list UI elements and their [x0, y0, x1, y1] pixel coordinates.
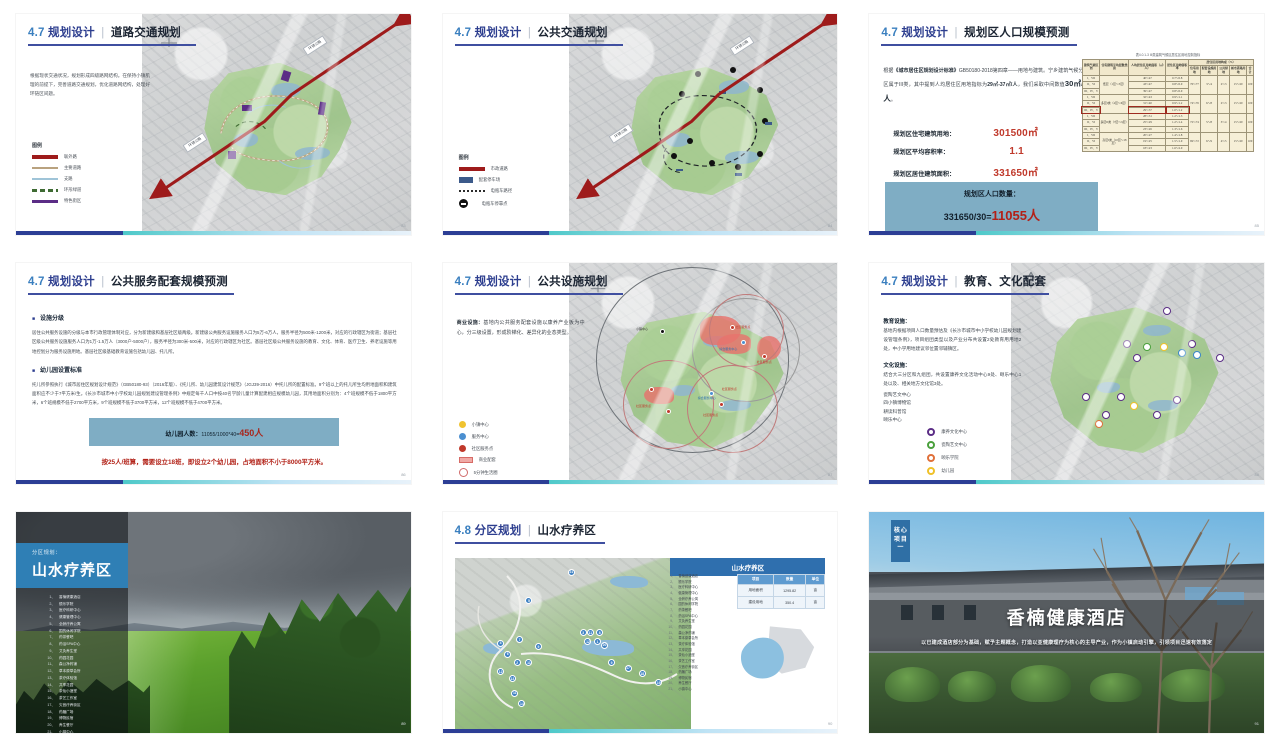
slide-header: 4.7 规划设计 | 规划区人口规模预测 — [869, 14, 1264, 46]
legend-label: 环形绿道 — [64, 187, 81, 193]
result-highlight: 11055人 — [992, 208, 1040, 223]
box-formula: 11055/1000*40= — [201, 432, 239, 438]
list-item: 16、茶艺工作室 — [46, 695, 142, 702]
list-item: 13、茶疗体验馆 — [46, 675, 142, 682]
main-road-arrow — [569, 14, 837, 234]
legend-swatch-line — [32, 200, 58, 203]
slide-number: 4.7 — [28, 276, 45, 288]
slide-cell-4: 4.7 规划设计 | 公共服务配套规模预测 设施分级 居住公共服务设施的分级与本… — [0, 249, 427, 498]
site-green-area — [201, 63, 351, 196]
legend-swatch-dots — [459, 190, 485, 192]
legend-label: 配套停车场 — [479, 177, 500, 183]
cell-res: 69～72 — [1189, 132, 1201, 151]
calculation-rows: 规划区住宅建筑用地：301500㎡ 规划区平均容积率：1.1 规划区居住建筑面积… — [893, 124, 1093, 186]
slide-footer-bar — [443, 480, 838, 484]
map-label: 社区服务点 — [757, 360, 772, 364]
museum-pin — [1178, 349, 1186, 357]
calc-value: 331650㎡ — [993, 164, 1038, 179]
museum-pin — [1193, 351, 1201, 359]
calc-value: 301500㎡ — [993, 124, 1038, 139]
slide-public-service-scale[interactable]: 4.7 规划设计 | 公共服务配套规模预测 设施分级 居住公共服务设施的分级与本… — [16, 263, 411, 484]
slide-title-secondary: 教育、文化配套 — [964, 276, 1046, 288]
culture-center-pin — [1188, 340, 1196, 348]
slide-title-secondary: 规划区人口规模预测 — [964, 27, 1069, 39]
legend-item: 社区服务点 — [459, 445, 504, 452]
legend-item: 幼儿园 — [927, 467, 967, 475]
culture-item: 耕读科普馆 — [883, 408, 1021, 416]
page-number: 86 — [401, 472, 405, 477]
list-item: 11、森公净药铺 — [46, 661, 142, 668]
cell-fac: 3～4 — [1200, 75, 1217, 94]
cell-sum: 100 — [1247, 94, 1254, 113]
map-number-pin[interactable]: 21 — [568, 569, 575, 576]
cell-green: 2～3 — [1218, 75, 1230, 94]
slide-cell-1: 环镇公路 环镇公路 4.7 规划设计 | 道路交通规划 根据现状交通状况，规划形… — [0, 0, 427, 249]
core-project-tag: 核心项目一 — [891, 520, 910, 562]
legend-label: 康养文化中心 — [941, 429, 967, 435]
culture-center-pin — [1117, 393, 1125, 401]
indicator-table: 建筑气候区划 住宅建筑平均层数类别 人均居住区用地面积（㎡/人） 居住区用地容积… — [1082, 59, 1254, 152]
cell-type: 低层（1层～3层） — [1100, 75, 1129, 94]
slide-public-facilities[interactable]: 小镇中心 社区服务点 综合服务中心 社区服务点 综合服务中心 社区服务点 社区服… — [443, 263, 838, 484]
cell-zone: III、IV、V — [1082, 145, 1099, 151]
tram-stop-marker — [730, 67, 736, 73]
special-district-marker — [242, 105, 252, 111]
legend-education-culture: 康养文化中心 瓷陶艺文中心 颐乐学院 幼儿园 博物馆 — [927, 428, 967, 484]
slide-footer-bar — [869, 231, 1264, 235]
slide-cell-8: 4.8 分区规划 | 山水疗养区 21596473118121211121311… — [427, 498, 854, 747]
cell-res: 76～77 — [1189, 75, 1201, 94]
list-item: 8、药浴SPA中心 — [46, 641, 142, 648]
page-number: 85 — [1255, 223, 1259, 228]
legend-item: 商业配套 — [459, 457, 504, 463]
legend-label: 颐乐学院 — [941, 455, 958, 461]
zone-location-diagram — [737, 622, 819, 684]
legend-title: 图例 — [32, 142, 81, 149]
slide-header: 4.7 规划设计 | 公共设施规划 — [443, 263, 838, 295]
slide-number: 4.8 — [455, 525, 472, 537]
community-service-marker — [762, 354, 767, 359]
slide-header: 4.7 规划设计 | 公共交通规划 — [443, 14, 838, 46]
cell-sum: 100 — [1247, 132, 1254, 151]
legend-label: 服务中心 — [472, 434, 489, 440]
map-number-pin[interactable]: 17 — [625, 665, 632, 672]
legend-swatch-line — [32, 167, 58, 169]
result-formula: 331650/30= — [944, 212, 992, 222]
parking-marker — [735, 173, 742, 176]
legend-label: 特色街区 — [64, 198, 81, 204]
satellite-map-background: 环镇公路 环镇公路 — [569, 14, 837, 235]
slide-population-forecast[interactable]: 4.7 规划设计 | 规划区人口规模预测 根据《城市居住区规划设计标准》GB50… — [869, 14, 1264, 235]
cell-green: 4～5 — [1218, 132, 1230, 151]
slide-title-secondary: 公共服务配套规模预测 — [111, 276, 228, 288]
list-item: 10、药园花园 — [46, 655, 142, 662]
map-number-pin[interactable]: 4 — [497, 640, 504, 647]
legend-label: 商业配套 — [479, 457, 496, 463]
page-number: 84 — [828, 223, 832, 228]
list-item: 1、香楠健康酒店 — [46, 594, 142, 601]
tram-stop-marker — [735, 164, 741, 170]
cell-fac: 5～8 — [1200, 113, 1217, 132]
list-item: 14、共享花园 — [46, 682, 142, 689]
tram-stop-marker — [762, 118, 768, 124]
water-body — [666, 133, 690, 146]
service-center-marker — [741, 340, 746, 345]
satellite-map-background: 环镇公路 环镇公路 — [142, 14, 410, 235]
cell-sum: 100 — [1247, 113, 1254, 132]
conclusion-text: 按25人/班算，需要设立18班，即设立2个幼儿园，占地面积不小于8000平方米。 — [32, 457, 397, 466]
page-number: 88 — [1255, 472, 1259, 477]
slide-cell-5: 小镇中心 社区服务点 综合服务中心 社区服务点 综合服务中心 社区服务点 社区服… — [427, 249, 854, 498]
cell-road: 15～20 — [1230, 94, 1247, 113]
list-item: 6、国的休闲学院 — [46, 628, 142, 635]
commercial-area-blob — [757, 336, 781, 360]
title-separator: | — [528, 525, 531, 537]
road-label: 环镇公路 — [182, 132, 207, 153]
culture-center-pin — [1082, 393, 1090, 401]
cell-green: 2～3 — [1218, 94, 1230, 113]
zone-site-map[interactable]: 2159647311812121112131114917181920 — [455, 558, 691, 733]
legend-transit: 图例 市政道路 配套停车场 电瓶车路径 电瓶车停靠点 — [459, 154, 512, 213]
yile-academy-pin — [1095, 420, 1103, 428]
parking-marker — [719, 91, 726, 94]
legend-label: 主要道路 — [64, 165, 81, 171]
shrub — [948, 671, 995, 702]
calc-value: 1.1 — [993, 146, 1024, 157]
slide-road-traffic[interactable]: 环镇公路 环镇公路 4.7 规划设计 | 道路交通规划 根据现状交通状况，规划形… — [16, 14, 411, 235]
list-item: 12、草本原草会所 — [46, 668, 142, 675]
title-separator: | — [955, 276, 958, 288]
legend-label: 5分钟生活圈 — [474, 470, 498, 476]
cell-unit: 亩 — [806, 585, 825, 597]
cell-road: 15～20 — [1230, 113, 1247, 132]
culture-center-pin — [1216, 354, 1224, 362]
title-underline — [28, 293, 234, 295]
tram-stop-marker — [671, 153, 677, 159]
legend-fillbox — [459, 457, 473, 463]
site-green-area — [1047, 307, 1219, 453]
service-center-marker — [709, 391, 714, 396]
legend-facilities: 小镇中心 服务中心 社区服务点 商业配套 5分钟生活圈 10分钟生活圈 15分钟… — [459, 421, 504, 484]
slide-title-primary: 规划设计 — [48, 276, 95, 288]
slide-header: 4.7 规划设计 | 教育、文化配套 — [869, 263, 1264, 295]
cell-fac: 6～8 — [1200, 94, 1217, 113]
map-number-pin[interactable]: 1 — [594, 638, 601, 645]
th-far: 居住区用地容积率 — [1166, 60, 1189, 76]
map-label: 综合服务中心 — [719, 347, 737, 351]
slide-education-culture[interactable]: 4.7 规划设计 | 教育、文化配套 教育设施： 基地内根据项目人口数量预估及《… — [869, 263, 1264, 484]
special-district-marker — [280, 70, 291, 82]
calc-key: 规划区居住建筑面积： — [893, 171, 993, 179]
special-district-marker — [228, 151, 236, 159]
th-storey-type: 住宅建筑平均层数类别 — [1100, 60, 1129, 76]
legend-item: 电瓶车停靠点 — [459, 199, 512, 208]
road-network-overlay — [196, 58, 362, 195]
kindergarten-pin — [1160, 343, 1168, 351]
list-item: 5、全龄疗养公寓 — [46, 621, 142, 628]
th-total: 合计 — [1247, 66, 1254, 76]
water-body — [1097, 382, 1120, 393]
title-underline — [28, 44, 196, 46]
legend-item: 特色街区 — [32, 198, 81, 204]
legend-title: 图例 — [459, 154, 512, 161]
culture-center-pin — [1123, 340, 1131, 348]
page-number: 89 — [401, 721, 405, 726]
list-item: 19、博物民宿 — [46, 715, 142, 722]
cell-road: 15～20 — [1230, 75, 1247, 94]
calc-key: 规划区住宅建筑用地： — [893, 131, 993, 139]
legend-swatch-line — [459, 167, 485, 170]
legend-item: 联外路 — [32, 154, 81, 160]
map-number-pin[interactable]: 3 — [580, 629, 587, 636]
slide-header: 4.7 规划设计 | 公共服务配套规模预测 — [16, 263, 411, 295]
zone-title: 山水疗养区 — [32, 559, 128, 580]
water-body — [725, 151, 760, 164]
culture-item: 四小镇博物馆 — [883, 399, 1021, 407]
edu-body: 基地内根据项目人口数量预估及《长沙市城市中小学校幼儿园规划建设管理条例》，项目组… — [883, 327, 1021, 354]
title-underline — [455, 542, 605, 544]
water-body — [719, 80, 749, 93]
slide-title-primary: 规划设计 — [901, 276, 948, 288]
life-circle-5min — [623, 360, 714, 448]
legend-item: 电瓶车路径 — [459, 188, 512, 194]
legend-swatch-line — [32, 178, 58, 180]
list-item: 7、药茶餐吧 — [46, 634, 142, 641]
zone-facility-list: 1、香楠健康酒店2、颐乐学院3、医疗科研中心4、健康管理中心5、全龄疗养公寓6、… — [667, 574, 731, 693]
parking-marker — [765, 122, 772, 125]
map-label: 社区服务点 — [735, 325, 750, 329]
map-label: 综合服务中心 — [698, 396, 716, 400]
section-heading-1: 设施分级 — [32, 313, 397, 322]
slide-title-secondary: 山水疗养区 — [537, 525, 596, 537]
legend-item: 服务中心 — [459, 433, 504, 440]
community-service-marker — [719, 402, 724, 407]
water-body — [1143, 325, 1171, 336]
calc-row: 规划区住宅建筑用地：301500㎡ — [893, 124, 1093, 139]
list-item: 15、茶仙小酒堂 — [46, 688, 142, 695]
map-label: 小镇中心 — [636, 327, 648, 331]
page-number: 90 — [828, 721, 832, 726]
cell-item: 建设用地 — [738, 597, 774, 609]
tram-route-overlay — [623, 63, 789, 200]
cell-type: 多层I类（4层～6层） — [1100, 94, 1129, 113]
slide-title-primary: 规划设计 — [475, 276, 522, 288]
standard-intro-paragraph: 根据《城市居住区规划设计标准》GB50180-2018第四章——用地与建筑。宁乡… — [883, 66, 1083, 106]
legend-item: 颐乐学院 — [927, 454, 967, 462]
standard-name: 《城市居住区规划设计标准》 — [893, 68, 958, 74]
calc-key: 规划区平均容积率： — [893, 149, 993, 157]
slide-content: 设施分级 居住公共服务设施的分级与本市行政管理体制对应，分为新建级和基层社区级两… — [32, 313, 397, 466]
tram-stop-marker — [679, 91, 685, 97]
slide-number: 4.7 — [455, 27, 472, 39]
zone-area-table: 项目 数量 单位 用地面积1295.82亩建设用地350.4亩 — [737, 574, 825, 609]
cell-fac: 6～9 — [1200, 132, 1217, 151]
slide-cell-6: 4.7 规划设计 | 教育、文化配套 教育设施： 基地内根据项目人口数量预估及《… — [853, 249, 1280, 498]
zone-title-band: 分区规划： 山水疗养区 — [16, 543, 128, 588]
cell-far: 1.6～2.0 — [1166, 145, 1189, 151]
th-road: 城市道路用地 — [1230, 66, 1247, 76]
slide-cell-3: 4.7 规划设计 | 规划区人口规模预测 根据《城市居住区规划设计标准》GB50… — [853, 0, 1280, 249]
legend-road: 图例 联外路 主要道路 支路 环形绿道 特色街区 — [32, 142, 81, 209]
list-item: 18、药膳广场 — [46, 709, 142, 716]
slide-core-hotel[interactable]: 核心项目一 香楠健康酒店 以已建成酒店部分为基础，赋予主题概念，打造以亚健康理疗… — [869, 512, 1264, 733]
commercial-area-blob — [700, 316, 740, 345]
culture-heading: 文化设施： — [883, 361, 1021, 369]
section-heading-2: 幼儿园设置标准 — [32, 365, 397, 374]
slide-title-primary: 规划设计 — [48, 27, 95, 39]
site-road-overlay — [455, 558, 691, 733]
map-number-pin[interactable]: 18 — [639, 670, 646, 677]
life-circle-5min — [687, 365, 778, 453]
zone-facility-list: 1、香楠健康酒店2、颐乐学院3、医疗科研中心4、健康管理中心5、全龄疗养公寓6、… — [46, 594, 142, 733]
slide-zone-plan[interactable]: 4.8 分区规划 | 山水疗养区 21596473118121211121311… — [443, 512, 838, 733]
th-unit: 单位 — [806, 575, 825, 585]
list-item: 21、小镇中心 — [46, 729, 142, 733]
legend-pin — [927, 428, 935, 436]
cell-area: 18～23 — [1129, 145, 1166, 151]
legend-label: 支路 — [64, 176, 73, 182]
slide-title-secondary: 公共交通规划 — [537, 27, 607, 39]
shrub — [885, 667, 940, 702]
water-body — [703, 336, 730, 347]
map-label: 社区服务点 — [722, 387, 737, 391]
water-body — [234, 133, 258, 146]
slide-zone-hero[interactable]: 分区规划： 山水疗养区 1、香楠健康酒店2、颐乐学院3、医疗科研中心4、健康管理… — [16, 512, 411, 733]
box-label: 幼儿园人数： — [165, 432, 201, 438]
town-center-marker — [660, 329, 665, 334]
title-separator: | — [101, 27, 104, 39]
list-item: 3、医疗科研中心 — [46, 607, 142, 614]
section-body-2: 托儿所参照执行《城市居住区规划设计规范》（GB50180-93）（2016年版）… — [32, 380, 397, 408]
slide-cell-9: 核心项目一 香楠健康酒店 以已建成酒店部分为基础，赋予主题概念，打造以亚健康理疗… — [853, 498, 1280, 747]
legend-dot — [459, 421, 466, 428]
legend-label: 电瓶车停靠点 — [482, 201, 508, 207]
commercial-area-blob — [644, 387, 674, 405]
slide-public-transit[interactable]: 环镇公路 环镇公路 4.7 规划设计 | 公共交通规划 图例 市政道路 配套停车… — [443, 14, 838, 235]
cell-item: 用地面积 — [738, 585, 774, 597]
intro-part: 。 — [891, 97, 896, 103]
slide-footer-bar — [869, 480, 1264, 484]
table-caption: 表4.0.1-3 III类建筑气候区居住区用地控制指标 — [1082, 52, 1254, 57]
cell-sum: 100 — [1247, 75, 1254, 94]
calc-row: 规划区居住建筑面积：331650㎡ — [893, 164, 1093, 179]
list-item: 17、欠音疗养街区 — [46, 702, 142, 709]
title-separator: | — [528, 276, 531, 288]
box-result: 450人 — [239, 428, 263, 438]
cell-unit: 亩 — [806, 597, 825, 609]
hotel-subtitle: 以已建成酒店部分为基础，赋予主题概念，打造以亚健康理疗为核心的主导产业，作为小镇… — [875, 639, 1258, 646]
section-body-1: 居住公共服务设施的分级与本市行政管理体制对应，分为新建级和基层社区级两级。新建级… — [32, 328, 397, 356]
kindergarten-result-box: 幼儿园人数：11055/1000*40=450人 — [89, 418, 339, 446]
cell-road: 15～20 — [1230, 132, 1247, 151]
th-green: 公共绿地 — [1218, 66, 1230, 76]
th-per-capita-area: 人均居住区用地面积（㎡/人） — [1129, 60, 1166, 76]
map-number-pin[interactable]: 11 — [587, 629, 594, 636]
th-item: 项目 — [738, 575, 774, 585]
legend-swatch-box — [459, 177, 473, 183]
tram-stop-marker — [695, 71, 701, 77]
cell-res: 72～74 — [1189, 113, 1201, 132]
slide-footer-bar — [443, 729, 838, 733]
culture-item: 颐乐中心 — [883, 416, 1021, 424]
page-number: 83 — [401, 223, 405, 228]
life-circle-15min — [596, 267, 789, 453]
commercial-area-blob — [717, 334, 752, 354]
map-label: 社区服务点 — [703, 413, 718, 417]
hotel-title: 香楠健康酒店 — [869, 604, 1264, 630]
tram-stop-marker — [709, 160, 715, 166]
commercial-description: 商业设施：基地内公共服务配套设施以康养产业板为中心，分三级设置，形成阶梯化、差异… — [457, 319, 585, 338]
slide-body-text: 根据现状交通状况，规划形成四级路网结构。在保持小镇肌理的前提下，完善道路交通规划… — [30, 72, 150, 99]
slide-header: 4.8 分区规划 | 山水疗养区 — [443, 512, 838, 544]
water-body — [671, 385, 695, 396]
slide-footer-bar — [16, 231, 411, 235]
slide-title-secondary: 道路交通规划 — [111, 27, 181, 39]
road-label: 环镇公路 — [609, 123, 634, 144]
slide-cell-7: 分区规划： 山水疗养区 1、香楠健康酒店2、颐乐学院3、医疗科研中心4、健康管理… — [0, 498, 427, 747]
title-separator: | — [955, 27, 958, 39]
tram-stop-icon — [459, 199, 468, 208]
community-service-marker — [730, 325, 735, 330]
slide-title-primary: 规划设计 — [901, 27, 948, 39]
land-use-indicator-table: 表4.0.1-3 III类建筑气候区居住区用地控制指标 建筑气候区划 住宅建筑平… — [1082, 52, 1254, 152]
legend-item: 支路 — [32, 176, 81, 182]
life-circle-5min — [709, 294, 784, 367]
list-item: 4、健康管理中心 — [46, 614, 142, 621]
description-label: 商业设施： — [457, 320, 484, 326]
body-paragraph: 根据现状交通状况，规划形成四级路网结构。在保持小镇肌理的前提下，完善道路交通规划… — [30, 72, 150, 99]
tram-stop-marker — [757, 87, 763, 93]
th-climate-zone: 建筑气候区划 — [1082, 60, 1099, 76]
culture-body: 结合大三分区和九组团，共设置康养文化活动中心9处、颐乐中心1处以及、相关地方文化… — [883, 371, 1021, 389]
culture-center-pin — [1153, 411, 1161, 419]
legend-item: 环形绿道 — [32, 187, 81, 193]
legend-item: 市政道路 — [459, 166, 512, 172]
legend-label: 电瓶车路径 — [491, 188, 512, 194]
intro-part: 根据 — [883, 68, 893, 74]
culture-center-pin — [1102, 411, 1110, 419]
slide-number: 4.7 — [28, 27, 45, 39]
cell-res: 74～76 — [1189, 94, 1201, 113]
map-label: 社区服务点 — [636, 404, 651, 408]
map-number-pin[interactable]: 11 — [511, 690, 518, 697]
table-row: 用地面积1295.82亩 — [738, 585, 825, 597]
slide-number: 4.7 — [881, 27, 898, 39]
legend-swatch-line — [32, 155, 58, 158]
page-number: 87 — [828, 472, 832, 477]
community-service-marker — [649, 387, 654, 392]
th-quantity: 数量 — [773, 575, 805, 585]
tram-stop-marker — [757, 151, 763, 157]
slide-title-primary: 规划设计 — [475, 27, 522, 39]
title-underline — [455, 44, 623, 46]
ceramic-art-center-pin — [1143, 343, 1151, 351]
legend-pin — [927, 467, 935, 475]
slide-footer-bar — [16, 480, 411, 484]
calc-row: 规划区平均容积率：1.1 — [893, 146, 1093, 157]
title-underline — [881, 44, 1077, 46]
cell-quantity: 350.4 — [773, 597, 805, 609]
map-number-pin[interactable]: 20 — [601, 642, 608, 649]
kindergarten-pin — [1130, 402, 1138, 410]
legend-label: 社区服务点 — [472, 446, 493, 452]
title-underline — [881, 293, 1049, 295]
satellite-map-background: 小镇中心 社区服务点 综合服务中心 社区服务点 综合服务中心 社区服务点 社区服… — [569, 263, 837, 484]
map-number-pin[interactable]: 6 — [504, 651, 511, 658]
main-road-arrow — [142, 14, 410, 234]
culture-item: 瓷陶艺文中心 — [883, 391, 1021, 399]
legend-pin — [927, 454, 935, 462]
